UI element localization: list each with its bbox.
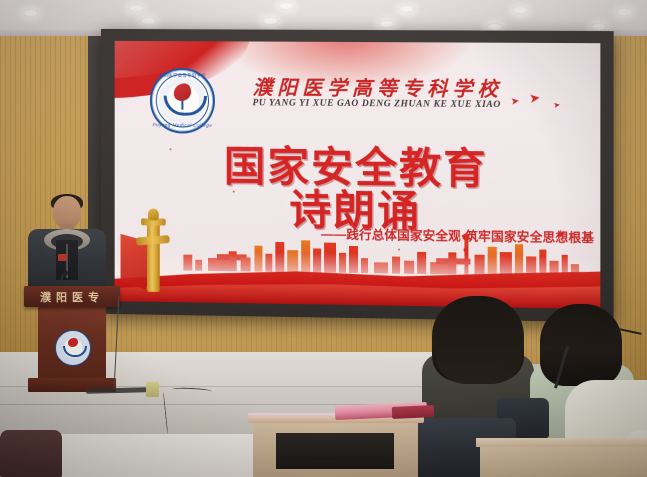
downlight [140,17,157,25]
paper-cup[interactable] [146,382,159,397]
speaker-person [22,196,110,291]
downlight [278,2,295,10]
downlight [512,6,529,14]
huabiao-shaft [147,222,160,292]
logo-text-top: 濮阳医学高等专科学校 [152,73,213,79]
podium-microphone-icon[interactable] [62,270,68,276]
podium-seal [55,330,91,366]
microphone-icon[interactable] [609,328,618,334]
podium-seal-bowl [63,346,87,357]
podium[interactable]: 濮阳医专 [24,286,120,396]
desk-shelf-opening [276,433,394,469]
audience-hair-highlight [436,306,522,384]
chair[interactable] [0,430,62,477]
huabiao-top [148,209,159,221]
speaker-badge [58,254,67,261]
downlight [128,4,145,12]
podium-label: 濮阳医专 [24,289,120,305]
huabiao-wing [136,235,170,245]
projection-screen[interactable]: 濮阳医学高等专科学校 Puyang Medical College 濮阳医学高等… [101,29,614,322]
folder-shadow [392,405,434,419]
downlight [262,17,279,25]
downlight [398,5,415,13]
school-logo: 濮阳医学高等专科学校 Puyang Medical College [150,68,215,134]
presentation-slide: 濮阳医学高等专科学校 Puyang Medical College 濮阳医学高等… [115,41,601,309]
desk-surface-right [476,438,647,447]
downlight [616,8,633,16]
logo-text-bottom: Puyang Medical College [152,122,213,127]
wooden-desk-right [480,444,647,477]
scene-photo: 濮阳医学高等专科学校 Puyang Medical College 濮阳医学高等… [0,0,647,477]
huabiao-column-icon [138,206,167,292]
downlight [378,20,395,28]
podium-top: 濮阳医专 [24,286,120,307]
red-birds-icon: ➤ ➤ ➤ [509,91,580,118]
downlight [590,23,607,31]
downlight [22,9,39,17]
